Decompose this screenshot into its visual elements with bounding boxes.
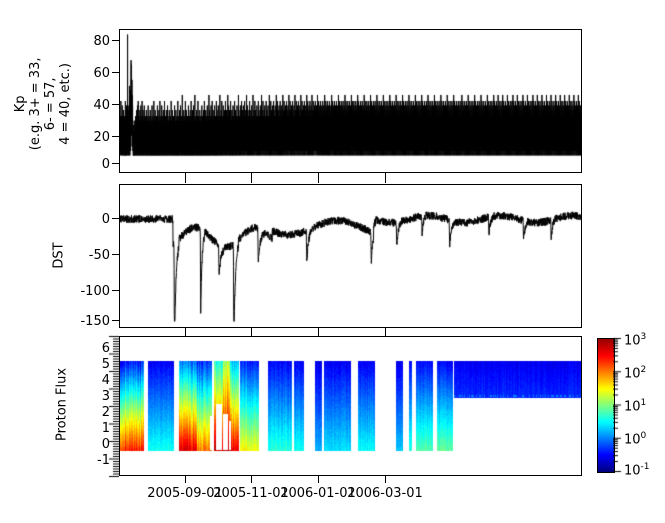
dst-panel — [119, 184, 582, 328]
proton-flux-axis-label: Proton Flux — [56, 349, 71, 459]
kp-panel — [119, 29, 582, 173]
kp-tick-80 — [112, 40, 119, 41]
xtick-label-4: 2006-03-01 — [325, 486, 445, 501]
colorbar-exponent-3: 3 — [641, 332, 647, 342]
dst-line-plot — [120, 185, 581, 327]
colorbar-label-1em1: 10-1 — [624, 462, 650, 478]
proton-flux-heatmap — [120, 337, 581, 475]
colorbar-mantissa-0: 10 — [624, 432, 641, 447]
colorbar-exponent-1: 1 — [641, 398, 647, 408]
colorbar-label-1e3: 103 — [624, 332, 646, 348]
flux-xtick-2 — [251, 329, 252, 336]
dst-ytick-m150: -150 — [62, 314, 110, 329]
dst-xtick-1 — [185, 176, 186, 183]
kp-axis-label: Kp (e.g. 3+ = 33, 6- = 57, 4 = 40, etc.) — [14, 34, 74, 174]
colorbar-exponent-2: 2 — [641, 365, 647, 375]
dst-xtick-2 — [251, 176, 252, 183]
kp-ytick-20: 20 — [76, 130, 110, 145]
dst-ytick-m50: -50 — [62, 248, 110, 263]
kp-axis-label-line2: (e.g. 3+ = 33, — [29, 34, 44, 174]
dst-ytick-m100: -100 — [62, 284, 110, 299]
flux-xtick-b1 — [185, 476, 186, 483]
colorbar-mantissa-1: 10 — [624, 399, 641, 414]
colorbar-mantissa-m1: 10 — [624, 463, 641, 478]
dst-xtick-3 — [318, 176, 319, 183]
kp-tick-0 — [112, 163, 119, 164]
colorbar-label-1e1: 101 — [624, 398, 646, 414]
kp-axis-label-line1: Kp — [14, 34, 29, 174]
proton-flux-panel — [119, 336, 582, 476]
flux-xtick-b4 — [385, 476, 386, 483]
kp-axis-label-line4: 4 = 40, etc.) — [59, 34, 74, 174]
kp-axis-label-line3: 6- = 57, — [44, 34, 59, 174]
dst-ytick-0: 0 — [62, 212, 110, 227]
dst-tick-m100 — [112, 290, 119, 291]
colorbar-label-1e2: 102 — [624, 365, 646, 381]
colorbar-label-1e0: 100 — [624, 431, 646, 447]
kp-tick-60 — [112, 72, 119, 73]
colorbar-ticks — [613, 336, 623, 473]
kp-ytick-40: 40 — [76, 98, 110, 113]
kp-tick-20 — [112, 136, 119, 137]
flux-xtick-b2 — [251, 476, 252, 483]
kp-ytick-80: 80 — [76, 34, 110, 49]
colorbar-exponent-m1: -1 — [641, 462, 650, 472]
dst-tick-m150 — [112, 320, 119, 321]
dst-tick-0 — [112, 218, 119, 219]
flux-xtick-4 — [385, 329, 386, 336]
figure-root: Kp (e.g. 3+ = 33, 6- = 57, 4 = 40, etc.)… — [0, 0, 665, 523]
kp-line-plot — [120, 30, 581, 172]
flux-axis-ticks — [105, 333, 119, 478]
colorbar-exponent-0: 0 — [641, 431, 647, 441]
kp-tick-40 — [112, 104, 119, 105]
flux-xtick-b3 — [318, 476, 319, 483]
colorbar-mantissa-2: 10 — [624, 366, 641, 381]
colorbar-mantissa-3: 10 — [624, 333, 641, 348]
flux-xtick-3 — [318, 329, 319, 336]
dst-tick-m50 — [112, 254, 119, 255]
kp-ytick-60: 60 — [76, 66, 110, 81]
kp-ytick-0: 0 — [76, 157, 110, 172]
flux-xtick-1 — [185, 329, 186, 336]
dst-xtick-4 — [385, 176, 386, 183]
